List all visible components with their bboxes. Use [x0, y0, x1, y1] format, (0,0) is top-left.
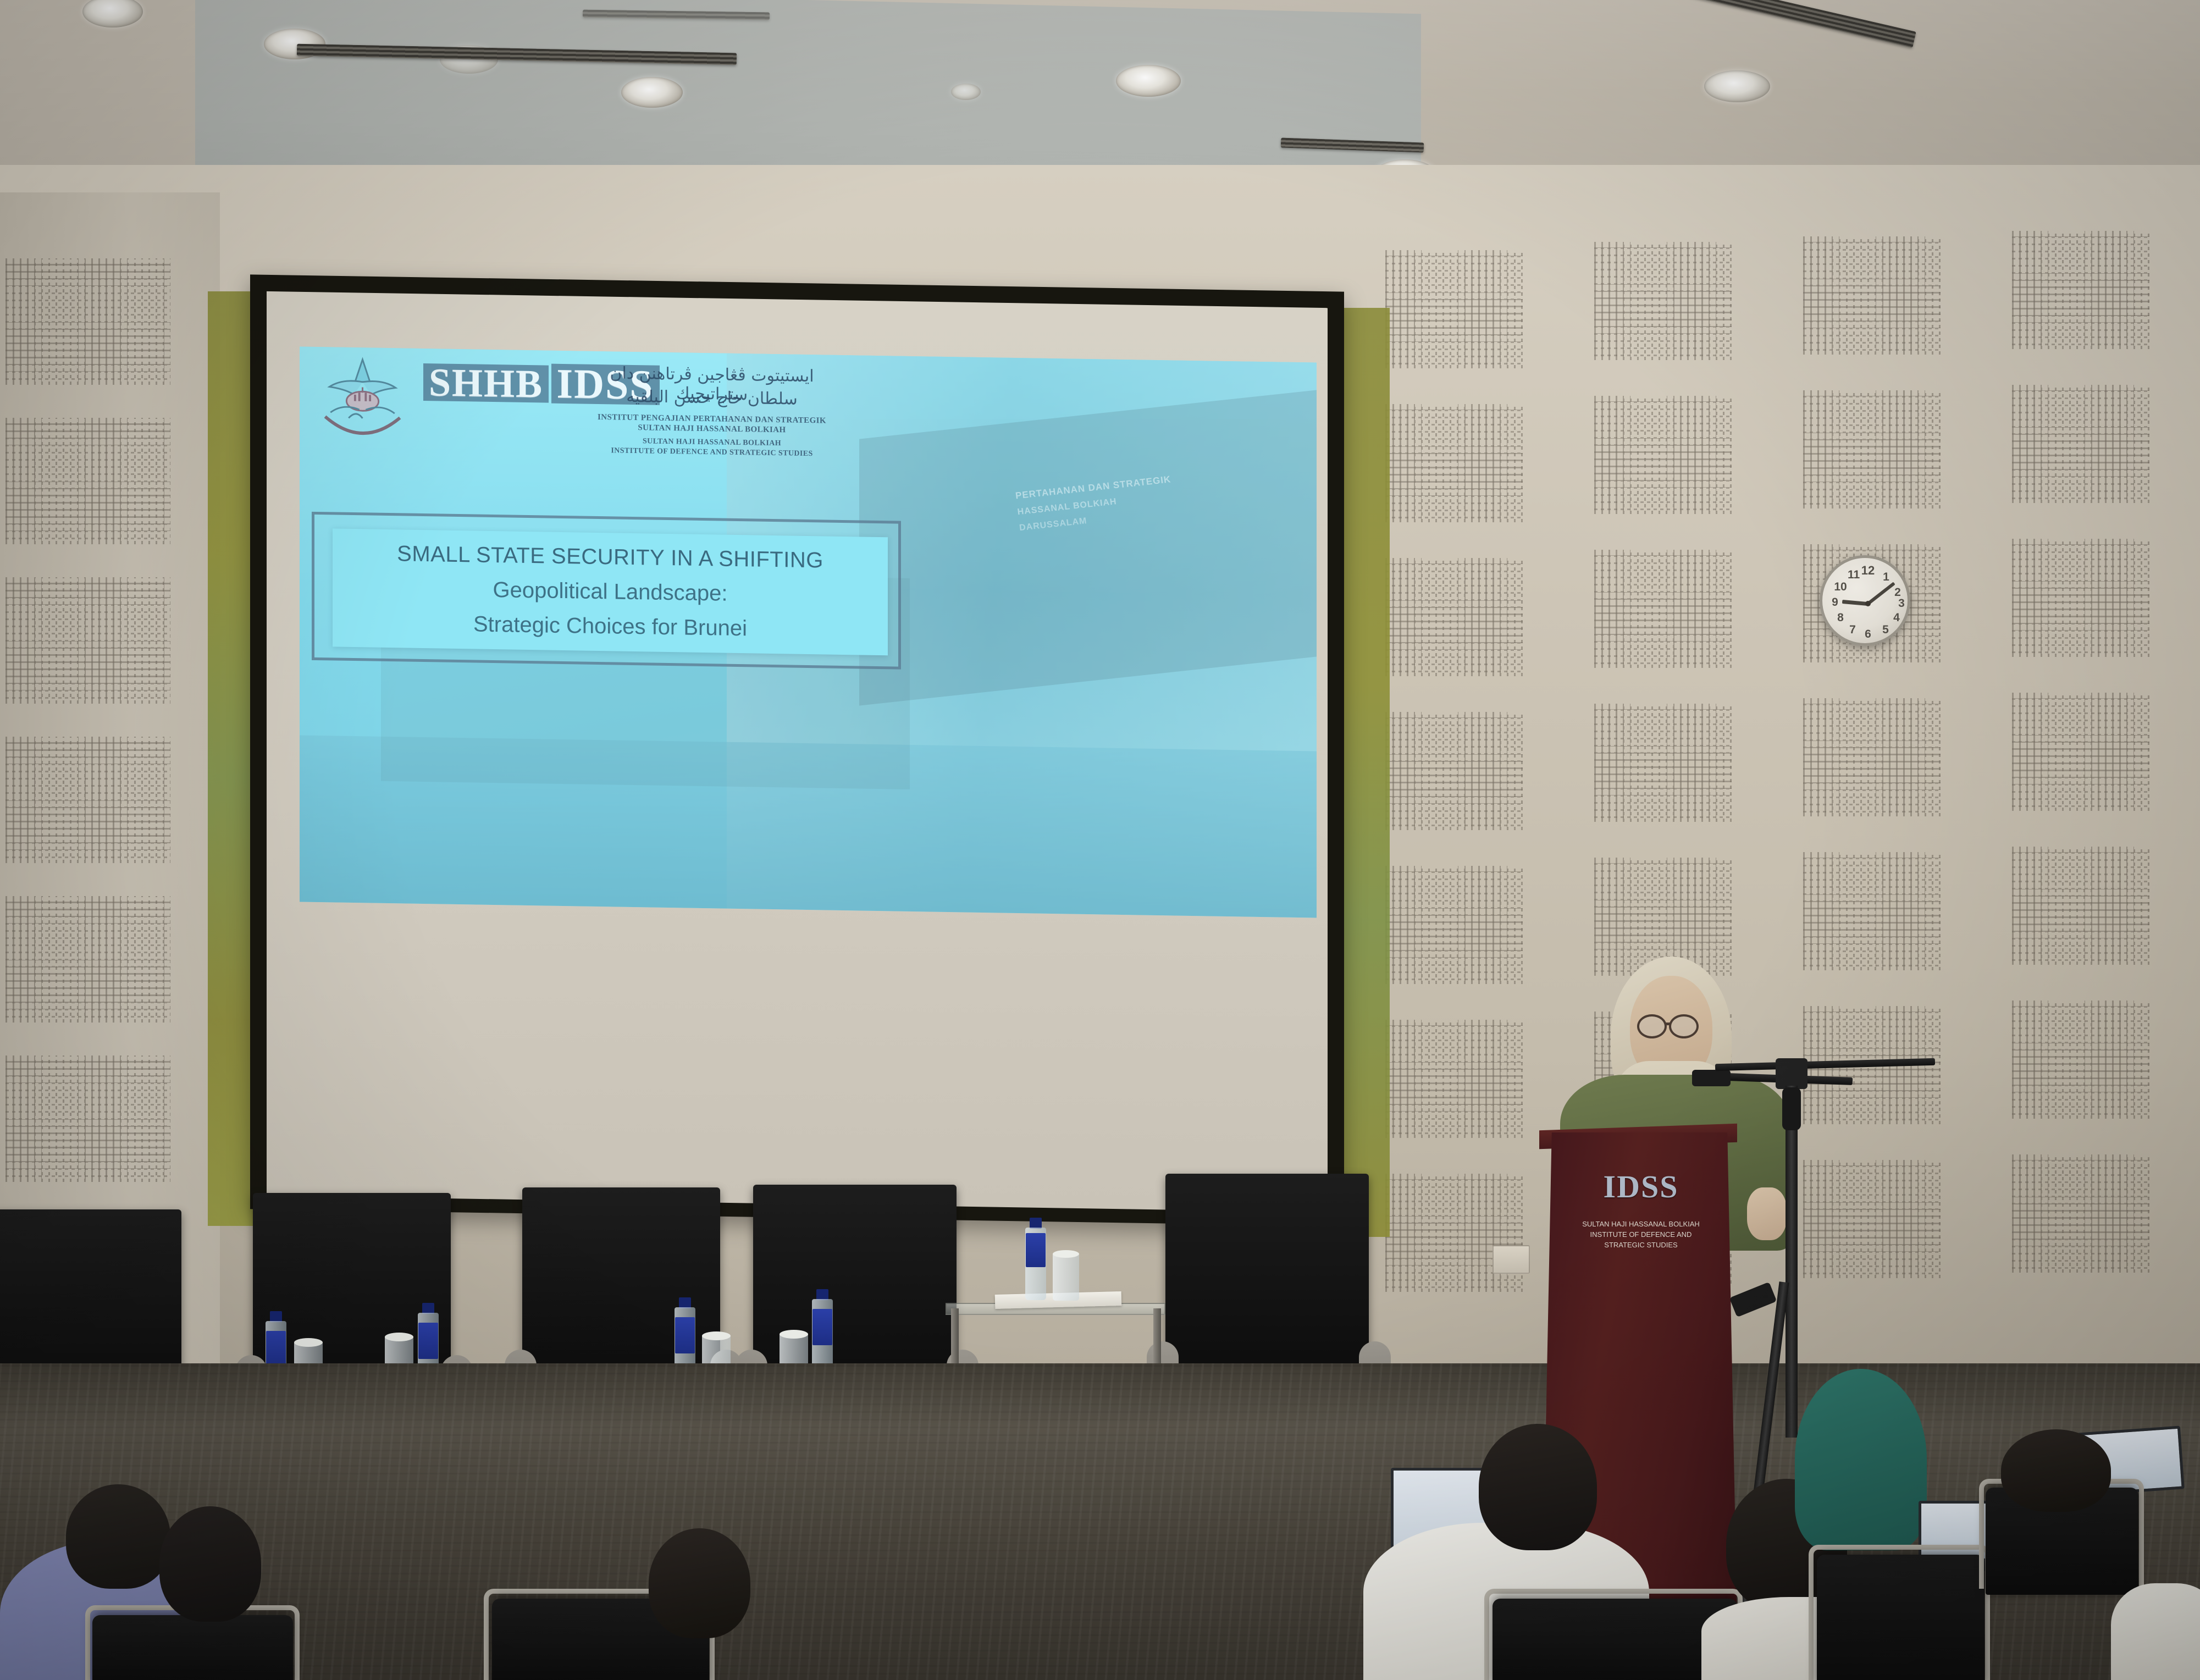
bottle-cap-icon — [1030, 1218, 1042, 1229]
glass-rim — [780, 1330, 808, 1339]
audience-chair[interactable] — [92, 1615, 293, 1680]
perforated-wall-panel — [1594, 242, 1732, 360]
clock-number: 12 — [1860, 565, 1876, 577]
lectern-subtitle-line3: STRATEGIC STUDIES — [1556, 1240, 1726, 1251]
audience-chair[interactable] — [1817, 1555, 1985, 1680]
perforated-wall-panel — [1594, 396, 1732, 514]
microphone-head-icon — [1692, 1070, 1731, 1086]
perforated-wall-panel — [1803, 1160, 1941, 1278]
perforated-wall-panel — [1385, 250, 1523, 368]
perforated-wall-panel — [1803, 390, 1941, 509]
perforated-wall-panel — [1594, 550, 1732, 668]
perforated-wall-panel — [5, 577, 170, 704]
bottle-label — [266, 1331, 286, 1367]
wordmark-shhb: SHHB — [423, 363, 549, 403]
bottle-cap-icon — [816, 1289, 828, 1300]
perforated-wall-panel — [5, 1055, 170, 1182]
clock-number: 9 — [1829, 596, 1841, 608]
audience-member-head — [2001, 1429, 2111, 1512]
clock-number: 11 — [1848, 569, 1860, 581]
audience-member-head — [66, 1484, 170, 1589]
perforated-wall-panel — [2012, 539, 2149, 657]
clock-number: 2 — [1892, 587, 1904, 598]
perforated-wall-panel — [5, 418, 170, 544]
bottle-cap-icon — [270, 1311, 282, 1322]
slide-title-line3: Strategic Choices for Brunei — [473, 612, 747, 641]
bottle-label — [1026, 1233, 1046, 1267]
speaker-glasses-icon — [1669, 1014, 1699, 1038]
glass-rim — [294, 1338, 323, 1347]
lectern-subtitle-line1: SULTAN HAJI HASSANAL BOLKIAH — [1556, 1219, 1726, 1230]
downlight-icon — [1704, 70, 1770, 102]
drinking-glass[interactable] — [1053, 1253, 1079, 1301]
bottle-cap-icon — [679, 1297, 691, 1308]
glass-rim — [702, 1331, 731, 1340]
conference-hall-photo: PERTAHANAN DAN STRATEGIK HASSANAL BOLKIA… — [0, 0, 2200, 1680]
downlight-icon — [1116, 65, 1181, 97]
perforated-wall-panel — [1803, 852, 1941, 970]
perforated-wall-panel — [5, 258, 170, 385]
clock-number: 10 — [1833, 581, 1848, 593]
clock-centre-pin — [1865, 601, 1871, 606]
slide-title-line2: Geopolitical Landscape: — [493, 578, 728, 606]
slide-title-box: SMALL STATE SECURITY IN A SHIFTING Geopo… — [333, 528, 888, 655]
microphone-stand-pole — [1786, 1086, 1798, 1438]
bottle-label — [418, 1323, 438, 1359]
perforated-wall-panel — [1803, 236, 1941, 355]
perforated-wall-panel — [2012, 385, 2149, 503]
microphone-boom-clamp — [1776, 1058, 1807, 1089]
audience-chair[interactable] — [1493, 1599, 1737, 1680]
bottle-label — [675, 1317, 695, 1353]
perforated-wall-panel — [2012, 1001, 2149, 1119]
clock-number: 8 — [1834, 612, 1847, 623]
clock-hour-hand — [1842, 600, 1867, 606]
lectern-subtitle-line2: INSTITUTE OF DEFENCE AND — [1556, 1230, 1726, 1240]
perforated-wall-panel — [1803, 698, 1941, 816]
clock-number: 3 — [1895, 598, 1908, 609]
speaker-glasses-icon — [1637, 1014, 1667, 1038]
perforated-wall-panel — [2012, 693, 2149, 811]
light-switch-plate[interactable] — [1493, 1245, 1530, 1274]
downlight-icon — [621, 77, 683, 108]
wall-clock: 12 1 2 3 4 5 6 7 8 9 10 11 — [1820, 555, 1910, 646]
audience-member-body — [2111, 1583, 2200, 1680]
audience-member-head — [159, 1506, 261, 1622]
speaker-hand — [1747, 1187, 1787, 1240]
perforated-wall-panel — [1385, 558, 1523, 676]
slide-photo-building — [859, 390, 1317, 705]
perforated-wall-panel — [1385, 712, 1523, 830]
clock-number: 6 — [1862, 628, 1874, 640]
perforated-wall-panel — [1385, 866, 1523, 984]
perforated-wall-panel — [5, 737, 170, 863]
perforated-wall-panel — [2012, 1154, 2149, 1273]
perforated-wall-panel — [2012, 231, 2149, 349]
perforated-wall-panel — [1594, 704, 1732, 822]
clock-number: 4 — [1891, 612, 1903, 623]
clock-minute-hand — [1866, 582, 1895, 605]
presentation-slide: PERTAHANAN DAN STRATEGIK HASSANAL BOLKIA… — [300, 346, 1317, 918]
microphone-stand-collar — [1782, 1087, 1801, 1130]
glass-rim — [385, 1333, 413, 1341]
perforated-wall-panel — [1385, 404, 1523, 522]
water-bottle[interactable] — [1022, 1218, 1049, 1300]
clock-number: 1 — [1880, 571, 1892, 583]
clock-number: 5 — [1880, 624, 1892, 635]
lectern-subtitle: SULTAN HAJI HASSANAL BOLKIAH INSTITUTE O… — [1556, 1219, 1726, 1251]
speaker-glasses-bridge — [1666, 1023, 1671, 1025]
wall-accent-stripe — [208, 291, 255, 1226]
audience-member-head — [1479, 1424, 1597, 1550]
bottle-cap-icon — [422, 1303, 434, 1314]
perforated-wall-panel — [1385, 1174, 1523, 1292]
perforated-wall-panel — [1385, 1020, 1523, 1138]
downlight-icon — [951, 84, 981, 100]
audience-member-headscarf — [1795, 1369, 1927, 1550]
slide-title-line1: SMALL STATE SECURITY IN A SHIFTING — [397, 541, 823, 573]
brunei-crest-icon — [309, 353, 416, 449]
audience-member-head — [649, 1528, 750, 1638]
bottle-label — [812, 1309, 832, 1345]
perforated-wall-panel — [5, 896, 170, 1023]
perforated-wall-panel — [2012, 847, 2149, 965]
clock-number: 7 — [1847, 624, 1859, 635]
glass-rim — [1053, 1250, 1079, 1258]
lectern-logo-text: IDSS — [1561, 1168, 1721, 1205]
